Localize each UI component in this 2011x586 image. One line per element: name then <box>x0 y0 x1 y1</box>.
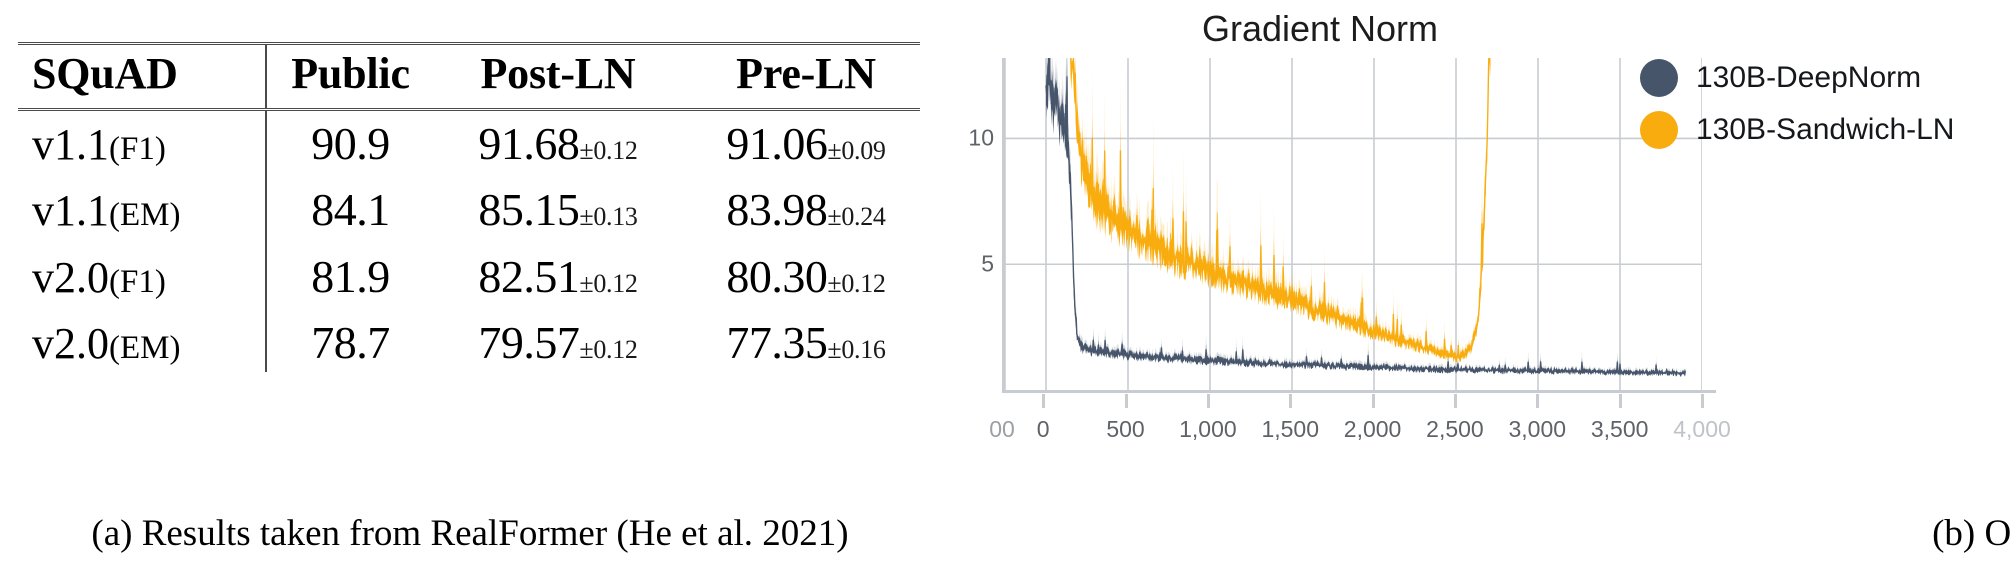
plot-svg <box>1005 58 1702 390</box>
x-axis-tick-label: 2,500 <box>1426 416 1484 443</box>
cell-post-ln: 91.68±0.12 <box>434 110 682 178</box>
y-axis-tick-label: 5 <box>981 251 994 278</box>
row-version: v1.1 <box>32 186 109 235</box>
series-layer <box>1046 58 1686 377</box>
chart-legend: 130B-DeepNorm 130B-Sandwich-LN <box>1640 52 2010 156</box>
legend-item-deepnorm[interactable]: 130B-DeepNorm <box>1640 52 2010 104</box>
x-axis-tick-mark <box>1701 394 1704 408</box>
row-label-v20-f1: v2.0(F1) <box>18 244 266 310</box>
legend-item-label: 130B-Sandwich-LN <box>1696 113 1954 147</box>
column-header-pre-ln: Pre-LN <box>682 44 920 110</box>
x-axis-tick-label: 4,000 <box>1673 416 1731 443</box>
cell-pre-ln: 91.06±0.09 <box>682 110 920 178</box>
cell-value: 81.9 <box>311 251 390 302</box>
x-axis-tick-label: 3,500 <box>1591 416 1649 443</box>
cell-value: 80.30 <box>726 251 827 302</box>
cell-stddev: ±0.16 <box>827 335 885 364</box>
x-axis-tick-label: 3,000 <box>1509 416 1567 443</box>
cell-pre-ln: 80.30±0.12 <box>682 244 920 310</box>
cell-value: 77.35 <box>726 317 827 368</box>
column-header-post-ln: Post-LN <box>434 44 682 110</box>
row-label-v11-em: v1.1(EM) <box>18 177 266 243</box>
row-version: v2.0 <box>32 253 109 302</box>
x-axis-tick-label: 2,000 <box>1344 416 1402 443</box>
caption-panel-a: (a) Results taken from RealFormer (He et… <box>0 512 940 555</box>
row-metric: (F1) <box>109 264 166 300</box>
cell-public: 78.7 <box>266 310 434 372</box>
table-row: v2.0(EM) 78.7 79.57±0.12 77.35±0.16 <box>18 310 920 372</box>
cell-stddev: ±0.12 <box>579 136 637 165</box>
legend-circle-icon <box>1640 111 1678 149</box>
x-axis-tick-label: 0 <box>1037 416 1050 443</box>
table-header-row: SQuAD Public Post-LN Pre-LN R <box>18 44 920 110</box>
x-axis-tick-mark <box>1289 394 1292 408</box>
figure-root: SQuAD Public Post-LN Pre-LN R v1.1(F1) 9… <box>0 0 2011 586</box>
cell-stddev: ±0.12 <box>579 335 637 364</box>
x-axis-tick-labels: 0005001,0001,5002,0002,5003,0003,5004,00… <box>940 394 1716 440</box>
x-axis-line <box>1002 390 1716 393</box>
y-axis-tick-labels: 105 <box>940 58 1000 390</box>
x-axis-tick-label: 1,000 <box>1179 416 1237 443</box>
panel-a-table: SQuAD Public Post-LN Pre-LN R v1.1(F1) 9… <box>0 0 940 586</box>
cell-value: 91.68 <box>478 118 579 169</box>
cell-value: 83.98 <box>726 184 827 235</box>
column-header-public: Public <box>266 44 434 110</box>
squad-results-table: SQuAD Public Post-LN Pre-LN R v1.1(F1) 9… <box>18 42 920 372</box>
cell-value: 79.57 <box>478 317 579 368</box>
table-row: v1.1(F1) 90.9 91.68±0.12 91.06±0.09 <box>18 110 920 178</box>
x-axis-tick-mark <box>1536 394 1539 408</box>
x-axis-tick-mark <box>1042 394 1045 408</box>
row-version: v2.0 <box>32 319 109 368</box>
x-axis-tick-label: 500 <box>1106 416 1144 443</box>
cell-pre-ln: 83.98±0.24 <box>682 177 920 243</box>
plot-area <box>1002 58 1702 390</box>
plot-wrap: 105 0005001,0001,5002,0002,5003,0003,500… <box>940 58 1716 448</box>
cell-value: 84.1 <box>311 184 390 235</box>
series-line-2 <box>1071 58 1491 359</box>
x-axis-tick-mark <box>1454 394 1457 408</box>
row-metric: (EM) <box>109 330 180 366</box>
table-row: v1.1(EM) 84.1 85.15±0.13 83.98±0.24 <box>18 177 920 243</box>
row-label-v20-em: v2.0(EM) <box>18 310 266 372</box>
cell-pre-ln: 77.35±0.16 <box>682 310 920 372</box>
row-metric: (F1) <box>109 131 166 167</box>
cell-post-ln: 79.57±0.12 <box>434 310 682 372</box>
series-band-2 <box>1071 58 1491 363</box>
cell-stddev: ±0.12 <box>579 269 637 298</box>
cell-stddev: ±0.13 <box>579 202 637 231</box>
legend-item-label: 130B-DeepNorm <box>1696 61 1921 95</box>
series-halo-2 <box>1071 58 1491 363</box>
cell-stddev: ±0.09 <box>827 136 885 165</box>
x-axis-tick-mark <box>1207 394 1210 408</box>
cell-public: 90.9 <box>266 110 434 178</box>
row-version: v1.1 <box>32 120 109 169</box>
column-header-squad: SQuAD <box>18 44 266 110</box>
x-axis-tick-label: 1,500 <box>1261 416 1319 443</box>
legend-item-sandwich-ln[interactable]: 130B-Sandwich-LN <box>1640 104 2010 156</box>
cell-post-ln: 85.15±0.13 <box>434 177 682 243</box>
table-row: v2.0(F1) 81.9 82.51±0.12 80.30±0.12 <box>18 244 920 310</box>
x-axis-tick-mark <box>1619 394 1622 408</box>
row-label-v11-f1: v1.1(F1) <box>18 110 266 178</box>
caption-panel-b: (b) Our preliminary experiment on DeepNo… <box>1880 512 2011 555</box>
cell-value: 90.9 <box>311 118 390 169</box>
chart-title: Gradient Norm <box>940 8 1700 50</box>
squad-table-clip: SQuAD Public Post-LN Pre-LN R v1.1(F1) 9… <box>18 42 920 372</box>
table-header: SQuAD Public Post-LN Pre-LN R <box>18 44 920 110</box>
cell-post-ln: 82.51±0.12 <box>434 244 682 310</box>
table-body: v1.1(F1) 90.9 91.68±0.12 91.06±0.09 v1.1… <box>18 110 920 373</box>
cell-value: 85.15 <box>478 184 579 235</box>
cell-value: 91.06 <box>726 118 827 169</box>
x-axis-tick-label: 00 <box>989 416 1015 443</box>
cell-stddev: ±0.12 <box>827 269 885 298</box>
cell-public: 84.1 <box>266 177 434 243</box>
cell-stddev: ±0.24 <box>827 202 885 231</box>
y-axis-tick-label: 10 <box>968 125 994 152</box>
x-axis-tick-mark <box>1372 394 1375 408</box>
legend-circle-icon <box>1640 59 1678 97</box>
cell-public: 81.9 <box>266 244 434 310</box>
cell-value: 78.7 <box>311 317 390 368</box>
x-axis-tick-mark <box>1125 394 1128 408</box>
panel-b-chart: Gradient Norm 105 0005001,0001,5002,0002… <box>940 0 2011 586</box>
cell-value: 82.51 <box>478 251 579 302</box>
row-metric: (EM) <box>109 197 180 233</box>
